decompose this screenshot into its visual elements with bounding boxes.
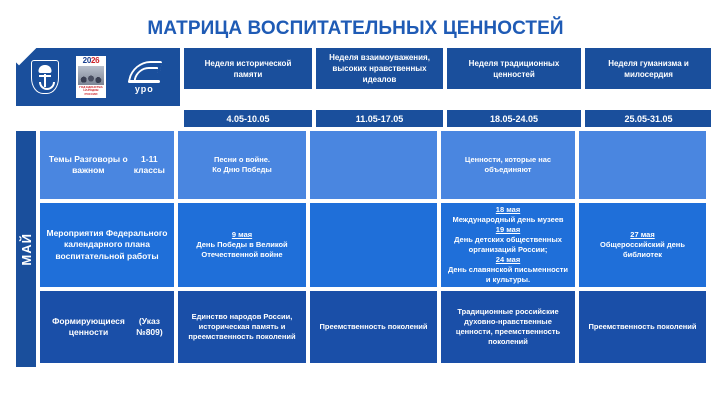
cell-r3c4: Преемственность поколений bbox=[579, 291, 706, 363]
cell-r1c1: Песни о войне.Ко Дню Победы bbox=[178, 131, 306, 199]
column-dates-3: 18.05-24.05 bbox=[447, 110, 581, 127]
table-row: Темы Разговоры о важном1-11 классы Песни… bbox=[40, 131, 706, 199]
cell-r1c4 bbox=[579, 131, 706, 199]
cell-r2c4: 27 маяОбщероссийский день библиотек bbox=[579, 203, 706, 287]
column-dates-2: 11.05-17.05 bbox=[316, 110, 443, 127]
cell-r3c3: Традиционные российские духовно-нравстве… bbox=[441, 291, 575, 363]
column-dates-4: 25.05-31.05 bbox=[585, 110, 711, 127]
year-2026-caption: Год единства народов России bbox=[78, 86, 104, 96]
matrix-rows: Темы Разговоры о важном1-11 классы Песни… bbox=[40, 131, 706, 367]
month-label: МАЙ bbox=[19, 233, 34, 266]
table-row: Мероприятия Федерального календарного пл… bbox=[40, 203, 706, 287]
column-header-4: Неделя гуманизма и милосердия bbox=[585, 48, 711, 89]
year-2026-icon: 2026 Год единства народов России bbox=[76, 56, 106, 98]
logo-strip: 2026 Год единства народов России уро bbox=[16, 48, 180, 106]
uro-icon: уро bbox=[123, 59, 165, 95]
cell-r2c3: 18 маяМеждународный день музеев19 маяДен… bbox=[441, 203, 575, 287]
cell-r3c2: Преемственность поколений bbox=[310, 291, 437, 363]
uro-logo-text: уро bbox=[123, 84, 165, 94]
page-title: МАТРИЦА ВОСПИТАТЕЛЬНЫХ ЦЕННОСТЕЙ bbox=[0, 18, 711, 40]
header-dates-row: 4.05-10.05 11.05-17.05 18.05-24.05 25.05… bbox=[16, 110, 706, 127]
cell-r1c2 bbox=[310, 131, 437, 199]
cell-r1c3: Ценности, которые нас объединяют bbox=[441, 131, 575, 199]
year-2026-suffix: 26 bbox=[91, 56, 99, 65]
row-label-1: Темы Разговоры о важном1-11 классы bbox=[40, 131, 174, 199]
row-label-2: Мероприятия Федерального календарного пл… bbox=[40, 203, 174, 287]
table-row: Формирующиеся ценности(Указ №809) Единст… bbox=[40, 291, 706, 363]
month-banner: МАЙ bbox=[16, 131, 36, 367]
column-dates-1: 4.05-10.05 bbox=[184, 110, 312, 127]
values-matrix: 2026 Год единства народов России уро Нед… bbox=[16, 48, 706, 367]
coat-of-arms-icon bbox=[31, 60, 59, 94]
cell-r3c1: Единство народов России, историческая па… bbox=[178, 291, 306, 363]
matrix-body: МАЙ Темы Разговоры о важном1-11 классы П… bbox=[16, 131, 706, 367]
row-label-3: Формирующиеся ценности(Указ №809) bbox=[40, 291, 174, 363]
year-2026-illustration bbox=[78, 66, 104, 85]
cell-r2c2 bbox=[310, 203, 437, 287]
year-2026-prefix: 20 bbox=[83, 56, 91, 65]
column-header-2: Неделя взаимоуважения, высоких нравствен… bbox=[316, 48, 443, 89]
header-titles-row: 2026 Год единства народов России уро Нед… bbox=[16, 48, 706, 106]
cell-r2c1: 9 маяДень Победы в Великой Отечественной… bbox=[178, 203, 306, 287]
column-header-3: Неделя традиционных ценностей bbox=[447, 48, 581, 89]
dates-row-spacer bbox=[16, 110, 180, 127]
column-header-1: Неделя исторической памяти bbox=[184, 48, 312, 89]
